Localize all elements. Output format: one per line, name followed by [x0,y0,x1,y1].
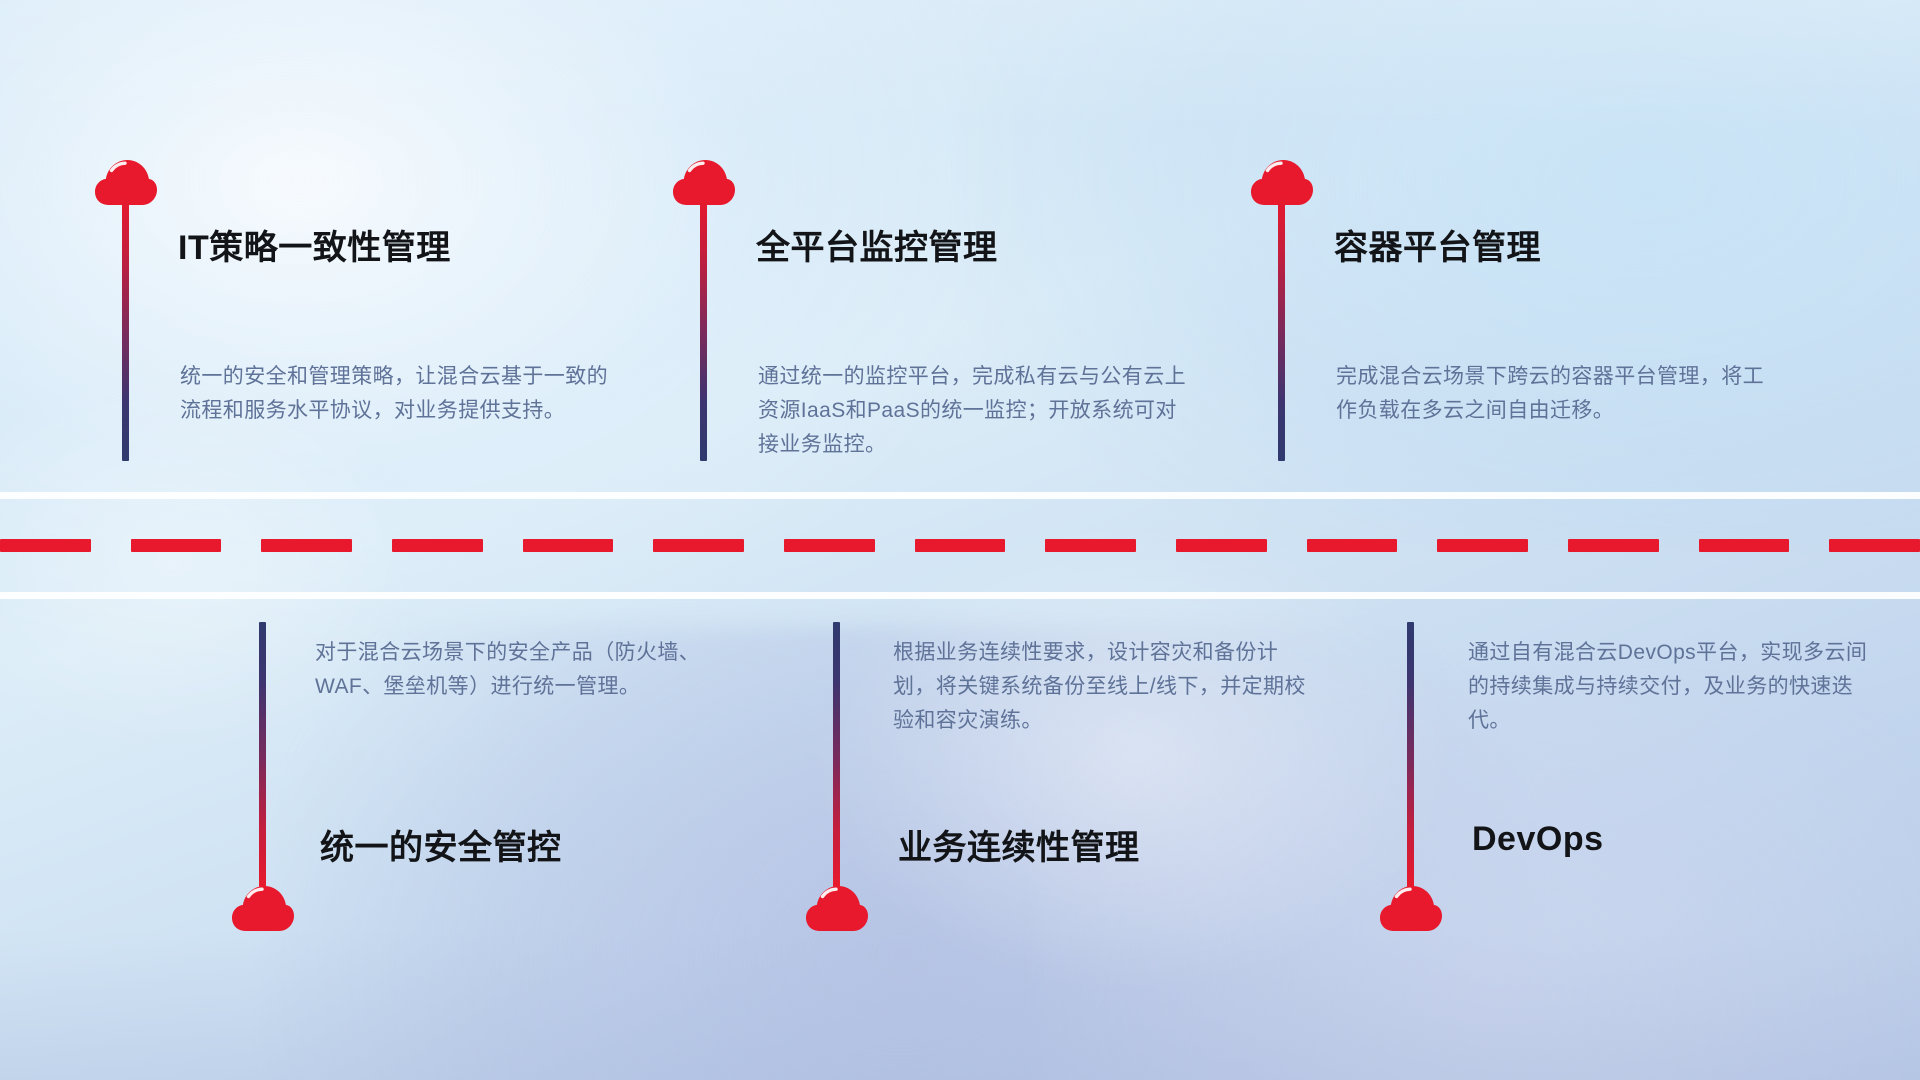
divider-dash [1307,539,1398,552]
connector-stem [259,622,266,887]
connector-stem [700,196,707,461]
column-title: 全平台监控管理 [756,220,998,269]
column-body: 通过统一的监控平台，完成私有云与公有云上资源IaaS和PaaS的统一监控；开放系… [758,360,1198,462]
divider-dash [261,539,352,552]
connector-stem [833,622,840,887]
divider-dash [392,539,483,552]
divider-dash [0,539,91,552]
divider-dash [523,539,614,552]
divider-rule-top [0,492,1920,499]
divider-dash [1568,539,1659,552]
divider-dash [1045,539,1136,552]
infographic-canvas: IT策略一致性管理 统一的安全和管理策略，让混合云基于一致的流程和服务水平协议，… [0,0,1920,1080]
cloud-icon [232,886,294,932]
divider-dash [784,539,875,552]
divider-dashed-line [0,538,1920,552]
divider-dash [915,539,1006,552]
column-title: 业务连续性管理 [898,820,1140,869]
connector-stem [1278,196,1285,461]
divider-rule-bottom [0,592,1920,599]
column-body: 通过自有混合云DevOps平台，实现多云间的持续集成与持续交付，及业务的快速迭代… [1468,636,1888,738]
cloud-icon [806,886,868,932]
connector-stem [1407,622,1414,887]
cloud-icon [1380,886,1442,932]
column-title: DevOps [1472,820,1604,859]
column-title: 容器平台管理 [1334,220,1541,269]
column-body: 根据业务连续性要求，设计容灾和备份计划，将关键系统备份至线上/线下，并定期校验和… [893,636,1318,738]
divider-dash [653,539,744,552]
divider-dash [1176,539,1267,552]
column-body: 对于混合云场景下的安全产品（防火墙、WAF、堡垒机等）进行统一管理。 [315,636,735,704]
divider-dash [131,539,222,552]
divider-dash [1699,539,1790,552]
column-title: 统一的安全管控 [320,820,562,869]
column-body: 完成混合云场景下跨云的容器平台管理，将工作负载在多云之间自由迁移。 [1336,360,1766,428]
column-title: IT策略一致性管理 [178,220,451,269]
divider-dash [1437,539,1528,552]
column-body: 统一的安全和管理策略，让混合云基于一致的流程和服务水平协议，对业务提供支持。 [180,360,610,428]
connector-stem [122,196,129,461]
divider-dash [1829,539,1920,552]
